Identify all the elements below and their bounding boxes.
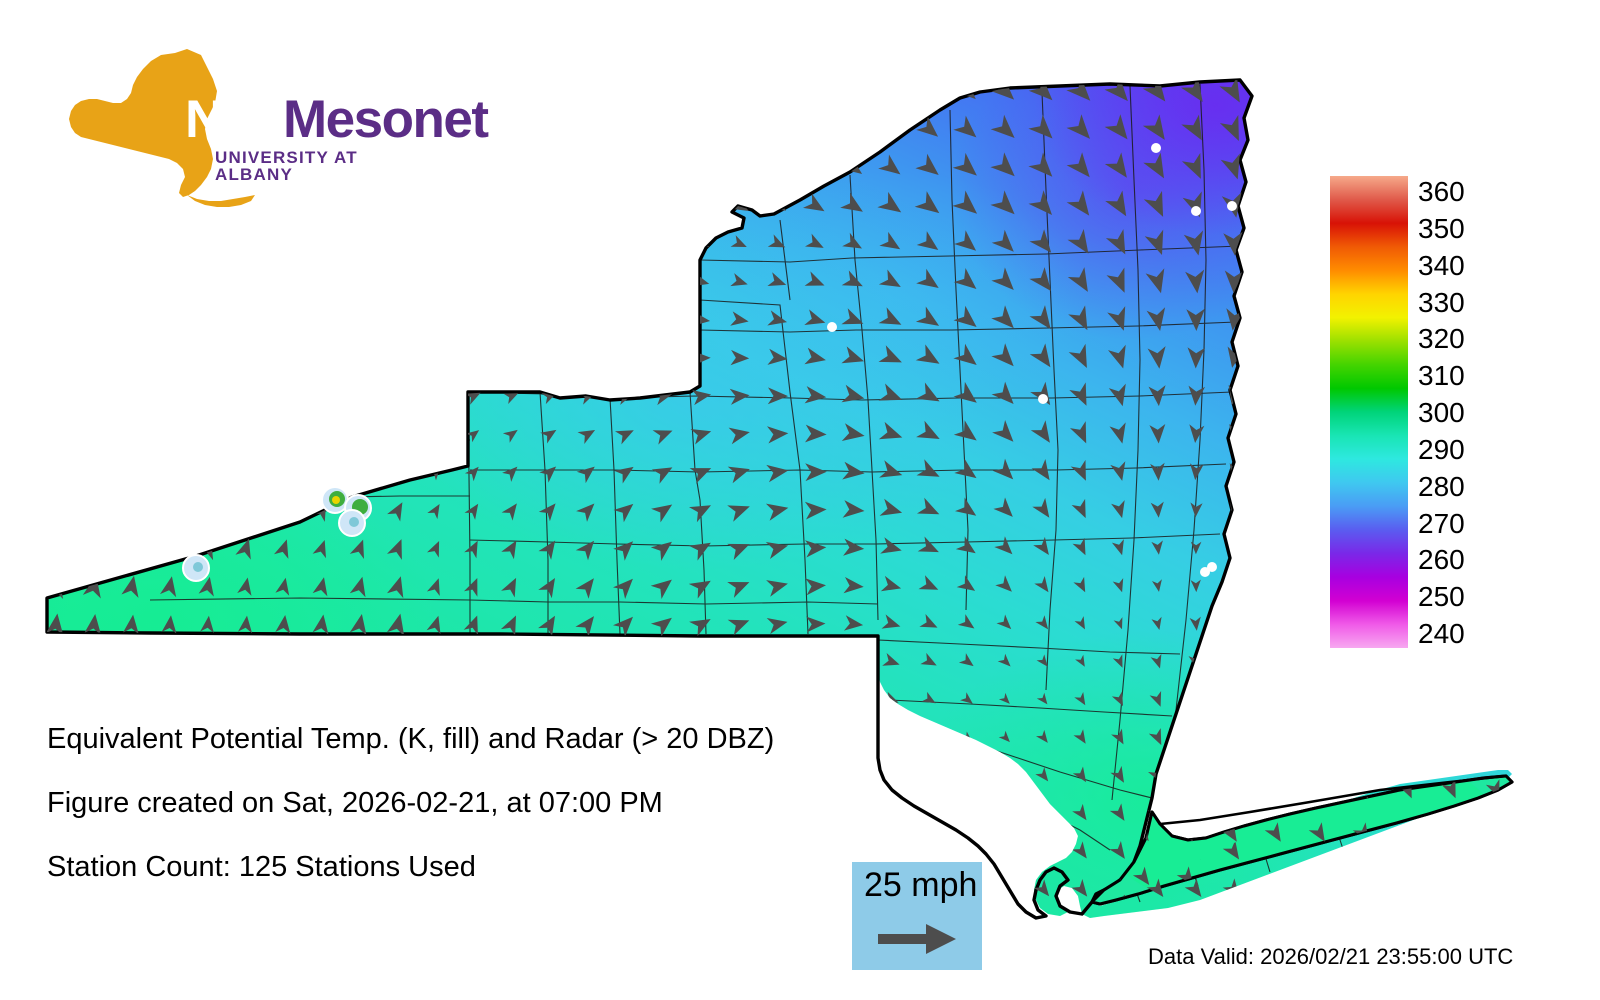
- wind-arrow: [997, 805, 1010, 819]
- wind-arrow: [542, 354, 557, 366]
- wind-arrow: [232, 313, 258, 333]
- wind-arrow: [879, 117, 900, 136]
- wind-arrow: [192, 389, 217, 412]
- wind-arrow: [1186, 765, 1200, 784]
- wind-arrow: [41, 387, 64, 412]
- wind-arrow: [125, 692, 138, 708]
- wind-arrow: [384, 352, 410, 371]
- wind-arrow: [770, 769, 785, 781]
- station-dot: [1227, 201, 1237, 211]
- wind-arrow: [348, 464, 366, 485]
- colorbar-tick-300: 300: [1418, 399, 1465, 427]
- wind-arrow: [425, 884, 443, 901]
- wind-arrow: [612, 155, 634, 175]
- wind-arrow: [885, 770, 896, 779]
- wind-arrow: [656, 274, 672, 286]
- wind-arrow: [154, 388, 179, 411]
- wind-arrow: [841, 117, 862, 137]
- wind-arrow: [271, 233, 296, 253]
- colorbar-tick-310: 310: [1418, 362, 1465, 390]
- wind-arrow: [538, 692, 556, 713]
- wind-arrow: [884, 731, 898, 741]
- wind-arrow: [384, 882, 406, 905]
- wind-arrow: [79, 387, 103, 412]
- wind-speed-legend-label: 25 mph: [864, 866, 977, 905]
- wind-arrow: [312, 652, 329, 673]
- wind-arrow: [654, 235, 672, 248]
- wind-arrow: [116, 388, 140, 412]
- wind-arrow: [1486, 824, 1500, 841]
- wind-arrow: [78, 350, 103, 373]
- wind-arrow: [656, 313, 672, 326]
- wind-arrow: [117, 462, 138, 488]
- wind-arrow: [885, 845, 897, 856]
- wind-arrow: [535, 115, 560, 138]
- wind-arrow: [350, 652, 368, 674]
- wind-arrow: [730, 695, 749, 710]
- wind-arrow: [923, 770, 934, 779]
- wind-arrow: [459, 153, 484, 174]
- wind-arrow: [923, 731, 935, 741]
- wind-arrow: [733, 770, 748, 783]
- wind-arrow: [386, 689, 405, 714]
- colorbar-tick-350: 350: [1418, 215, 1465, 243]
- wind-arrow: [86, 653, 101, 672]
- wind-arrow: [163, 654, 176, 670]
- wind-arrow: [1353, 867, 1369, 885]
- wind-arrow: [79, 276, 105, 297]
- wind-arrow: [652, 195, 672, 211]
- wind-arrow: [724, 76, 748, 100]
- wind-arrow: [463, 691, 478, 712]
- wind-arrow: [310, 272, 334, 292]
- wind-arrow: [655, 352, 672, 366]
- wind-arrow: [1397, 823, 1413, 842]
- wind-arrow: [125, 767, 140, 786]
- wind-arrow: [651, 155, 672, 174]
- wind-arrow: [691, 195, 710, 210]
- wind-arrow: [575, 654, 594, 675]
- wind-arrow: [234, 501, 251, 524]
- wind-arrow: [201, 654, 215, 671]
- wind-arrow: [725, 115, 750, 138]
- wind-arrow: [1035, 805, 1049, 820]
- nys-mesonet-logo: NYS Mesonet UNIVERSITY AT ALBANY: [55, 45, 405, 215]
- wind-arrow: [538, 654, 555, 675]
- wind-arrow: [120, 537, 138, 561]
- wind-arrow: [234, 234, 258, 254]
- wind-arrow: [124, 654, 138, 671]
- wind-arrow: [194, 275, 220, 295]
- wind-arrow: [1178, 779, 1193, 798]
- wind-arrow: [421, 153, 447, 174]
- wind-arrow: [847, 769, 860, 778]
- wind-arrow: [200, 691, 215, 709]
- wind-arrow: [574, 154, 597, 174]
- wind-arrow: [771, 808, 784, 818]
- wind-arrow: [87, 692, 101, 709]
- wind-arrow: [579, 848, 596, 861]
- figure-created-timestamp: Figure created on Sat, 2026-02-21, at 07…: [47, 787, 663, 820]
- wind-arrow: [1230, 541, 1240, 554]
- wind-arrow: [307, 353, 333, 372]
- wind-arrow: [199, 766, 216, 786]
- wind-arrow: [155, 462, 176, 488]
- wind-arrow: [387, 651, 405, 675]
- colorbar-tick-260: 260: [1418, 546, 1465, 574]
- wind-arrow: [807, 693, 824, 707]
- colorbar-tick-labels: 360350340330320310300290280270260250240: [1418, 176, 1528, 648]
- wind-arrow: [195, 235, 220, 255]
- wind-arrow: [733, 846, 745, 855]
- colorbar-tick-270: 270: [1418, 510, 1465, 538]
- wind-arrow: [576, 771, 595, 787]
- wind-arrow: [463, 886, 481, 901]
- colorbar-tick-250: 250: [1418, 583, 1465, 611]
- wind-arrow: [1224, 728, 1238, 747]
- wind-arrow: [118, 499, 137, 525]
- wind-arrow: [845, 692, 862, 705]
- wind-arrow: [464, 353, 482, 367]
- wind-arrow: [42, 461, 62, 487]
- wind-arrow: [802, 116, 824, 137]
- wind-arrow: [275, 690, 292, 711]
- colorbar: [1330, 176, 1408, 648]
- wind-arrow: [654, 772, 672, 786]
- wind-arrow: [1187, 728, 1200, 746]
- wind-arrow: [193, 462, 214, 487]
- wind-arrow: [425, 272, 447, 290]
- wind-arrow: [657, 884, 670, 894]
- wind-arrow: [117, 314, 143, 334]
- wind-arrow: [40, 349, 64, 373]
- wind-arrow: [691, 696, 711, 711]
- wind-arrow: [309, 464, 328, 486]
- logo-mesonet-text: Mesonet: [283, 93, 487, 146]
- wind-arrow: [464, 313, 483, 329]
- wind-arrow: [193, 352, 219, 372]
- wind-arrow: [275, 652, 291, 672]
- wind-arrow: [81, 537, 100, 562]
- wind-arrow: [959, 843, 973, 857]
- wind-arrow: [611, 116, 634, 138]
- wind-arrow: [347, 312, 372, 332]
- colorbar-tick-360: 360: [1418, 178, 1465, 206]
- wind-arrow: [1229, 579, 1240, 593]
- wind-arrow: [503, 313, 521, 328]
- wind-arrow: [309, 312, 334, 332]
- wind-speed-legend: 25 mph: [852, 862, 982, 970]
- wind-arrow: [580, 314, 595, 327]
- radar-echo: [183, 555, 209, 581]
- wind-arrow: [580, 353, 595, 365]
- wind-arrow: [268, 389, 294, 411]
- wind-arrow: [427, 430, 442, 443]
- wind-arrow: [572, 76, 596, 100]
- wind-arrow: [233, 273, 258, 293]
- station-dot: [827, 322, 837, 332]
- wind-arrow: [496, 77, 521, 100]
- station-dot: [1038, 394, 1048, 404]
- wind-arrow: [808, 731, 824, 743]
- wind-arrow: [998, 768, 1010, 781]
- wind-arrow: [40, 275, 65, 297]
- colorbar-gradient: [1330, 176, 1408, 648]
- wind-arrow: [1398, 867, 1413, 884]
- wind-arrow: [425, 768, 441, 788]
- wind-arrow: [538, 770, 557, 788]
- wind-arrow: [650, 116, 672, 137]
- wind-arrow: [542, 313, 558, 327]
- radar-echo: [339, 510, 365, 536]
- wind-arrow: [765, 155, 787, 174]
- wind-arrow: [885, 808, 896, 817]
- wind-arrow: [615, 772, 634, 786]
- wind-arrow: [426, 691, 441, 711]
- wind-arrow: [580, 885, 595, 897]
- wind-arrow: [541, 886, 557, 898]
- wind-arrow: [117, 425, 140, 450]
- wind-arrow: [614, 194, 635, 211]
- wind-arrow: [1227, 653, 1240, 669]
- wind-arrow: [620, 885, 633, 896]
- wind-arrow: [500, 692, 517, 713]
- wind-arrow: [540, 273, 559, 288]
- wind-arrow: [156, 236, 182, 256]
- wind-arrow: [501, 653, 517, 674]
- wind-arrow: [236, 765, 254, 787]
- wind-arrow: [695, 846, 708, 857]
- wind-arrow: [803, 156, 824, 174]
- wind-arrow: [307, 390, 333, 411]
- wind-arrow: [385, 311, 410, 331]
- wind-arrow: [155, 425, 178, 450]
- wind-arrow: [41, 424, 62, 450]
- wind-arrow: [848, 808, 859, 816]
- wind-arrow: [498, 193, 522, 211]
- wind-arrow: [230, 389, 255, 411]
- wind-arrow: [499, 232, 521, 248]
- wind-arrow: [307, 426, 330, 448]
- station-dot: [1207, 562, 1217, 572]
- wind-arrow: [573, 115, 597, 137]
- wind-arrow: [426, 653, 441, 672]
- wind-arrow: [503, 353, 520, 366]
- wind-arrow-icon: [878, 922, 958, 956]
- wind-arrow: [801, 77, 825, 100]
- wind-arrow: [348, 271, 373, 291]
- wind-arrow: [156, 500, 174, 525]
- wind-arrow: [613, 694, 633, 712]
- wind-arrow: [40, 237, 66, 259]
- wind-arrow: [158, 538, 175, 561]
- wind-arrow: [385, 427, 406, 447]
- wind-arrow: [840, 78, 863, 100]
- wind-arrow: [42, 499, 61, 525]
- wind-arrow: [163, 692, 177, 709]
- wind-arrow: [733, 808, 747, 819]
- wind-arrow: [534, 77, 559, 101]
- wind-arrow: [50, 768, 63, 784]
- wind-arrow: [312, 689, 330, 711]
- colorbar-tick-340: 340: [1418, 252, 1465, 280]
- wind-arrow: [961, 769, 973, 780]
- wind-arrow: [156, 276, 182, 295]
- wind-arrow: [690, 658, 711, 674]
- wind-arrow: [536, 193, 559, 211]
- wind-arrow: [1442, 868, 1456, 884]
- wind-arrow: [652, 695, 672, 712]
- wind-arrow: [155, 352, 181, 373]
- wind-arrow: [769, 693, 787, 707]
- wind-arrow: [538, 233, 559, 249]
- wind-arrow: [613, 655, 633, 675]
- wind-arrow: [461, 232, 484, 249]
- figure-title: Equivalent Potential Temp. (K, fill) and…: [47, 723, 774, 756]
- wind-arrow: [577, 233, 597, 248]
- wind-arrow: [230, 425, 254, 449]
- wind-arrow: [688, 78, 711, 100]
- wind-arrow: [78, 313, 104, 335]
- colorbar-tick-290: 290: [1418, 436, 1465, 464]
- wind-arrow: [618, 353, 634, 366]
- wind-arrow: [426, 392, 443, 405]
- wind-arrow: [87, 768, 101, 785]
- wind-arrow: [1221, 779, 1236, 798]
- wind-arrow: [269, 426, 293, 449]
- wind-arrow: [1187, 691, 1200, 708]
- wind-arrow: [272, 501, 288, 523]
- wind-arrow: [763, 115, 787, 137]
- wind-arrow: [1228, 617, 1240, 632]
- wind-arrow: [762, 76, 786, 100]
- wind-arrow: [345, 390, 370, 410]
- wind-arrow: [688, 117, 710, 137]
- wind-arrow: [79, 424, 101, 449]
- wind-arrow: [696, 884, 708, 893]
- wind-arrow: [421, 192, 446, 211]
- wind-arrow: [47, 652, 63, 672]
- colorbar-tick-330: 330: [1418, 289, 1465, 317]
- wind-arrow: [1487, 869, 1500, 884]
- wind-arrow: [611, 77, 635, 101]
- wind-arrow: [497, 153, 522, 174]
- wind-arrow: [540, 849, 558, 862]
- wind-arrow: [960, 806, 973, 819]
- logo-nys-text: NYS: [185, 93, 291, 146]
- wind-arrow: [155, 315, 181, 334]
- wind-arrow: [309, 232, 334, 252]
- wind-arrow: [423, 232, 447, 250]
- wind-arrow: [690, 156, 710, 174]
- wind-arrow: [500, 769, 518, 788]
- wind-arrow: [195, 500, 213, 524]
- wind-arrow: [231, 353, 257, 372]
- wind-arrow: [269, 353, 295, 372]
- wind-arrow: [384, 391, 408, 410]
- wind-arrow: [768, 656, 787, 671]
- wind-arrow: [79, 462, 99, 488]
- wind-arrow: [346, 881, 366, 905]
- wind-arrow: [425, 353, 444, 367]
- wind-arrow: [809, 808, 821, 817]
- wind-arrow: [270, 463, 290, 486]
- wind-arrow: [847, 846, 858, 855]
- wind-arrow: [79, 239, 105, 258]
- wind-arrow: [734, 885, 745, 893]
- wind-arrow: [238, 690, 254, 710]
- wind-arrow: [496, 115, 521, 138]
- wind-arrow: [463, 272, 484, 289]
- wind-arrow: [844, 654, 862, 668]
- wind-arrow: [578, 273, 596, 287]
- wind-arrow: [810, 846, 820, 854]
- wind-arrow: [346, 232, 372, 252]
- wind-arrow: [1223, 802, 1239, 821]
- wind-arrow: [463, 653, 478, 673]
- colorbar-tick-320: 320: [1418, 325, 1465, 353]
- wind-arrow: [192, 425, 216, 450]
- wind-arrow: [729, 657, 750, 672]
- wind-arrow: [649, 77, 672, 100]
- wind-arrow: [575, 693, 594, 713]
- wind-arrow: [238, 653, 253, 672]
- station-dot: [1191, 206, 1201, 216]
- wind-arrow: [117, 277, 143, 296]
- wind-arrow: [615, 234, 634, 248]
- wind-arrow: [772, 884, 782, 892]
- wind-arrow: [726, 154, 749, 174]
- station-dot: [1151, 143, 1161, 153]
- wind-arrow: [808, 769, 822, 780]
- wind-arrow: [460, 192, 485, 211]
- logo-subtitle: UNIVERSITY AT ALBANY: [215, 149, 405, 183]
- wind-arrow: [1225, 690, 1239, 708]
- wind-arrow: [1185, 803, 1200, 822]
- wind-arrow: [809, 884, 820, 893]
- wind-arrow: [922, 844, 935, 856]
- wind-arrow: [272, 273, 297, 293]
- wind-arrow: [193, 314, 219, 333]
- wind-arrow: [118, 238, 144, 257]
- wind-arrow: [384, 231, 410, 251]
- wind-arrow: [575, 194, 597, 211]
- wind-arrow: [311, 765, 330, 789]
- wind-arrow: [80, 499, 99, 525]
- wind-arrow: [1309, 867, 1326, 885]
- wind-arrow: [807, 655, 825, 670]
- wind-arrow: [617, 274, 634, 287]
- wind-arrow: [1224, 765, 1238, 784]
- wind-arrow: [270, 313, 296, 333]
- wind-arrow: [162, 766, 178, 785]
- wind-arrow: [345, 352, 371, 371]
- data-valid-timestamp: Data Valid: 2026/02/21 23:55:00 UTC: [1148, 944, 1513, 970]
- wind-arrow: [727, 194, 749, 211]
- wind-arrow: [695, 808, 709, 820]
- wind-arrow: [43, 537, 62, 563]
- wind-arrow: [772, 846, 783, 854]
- wind-arrow: [1034, 842, 1049, 858]
- colorbar-tick-280: 280: [1418, 473, 1465, 501]
- wind-arrow: [426, 313, 446, 329]
- wind-arrow: [651, 656, 672, 674]
- wind-arrow: [462, 768, 479, 788]
- wind-arrow: [878, 78, 900, 99]
- wind-arrow: [349, 689, 367, 712]
- wind-arrow: [535, 154, 559, 175]
- wind-arrow: [917, 79, 937, 99]
